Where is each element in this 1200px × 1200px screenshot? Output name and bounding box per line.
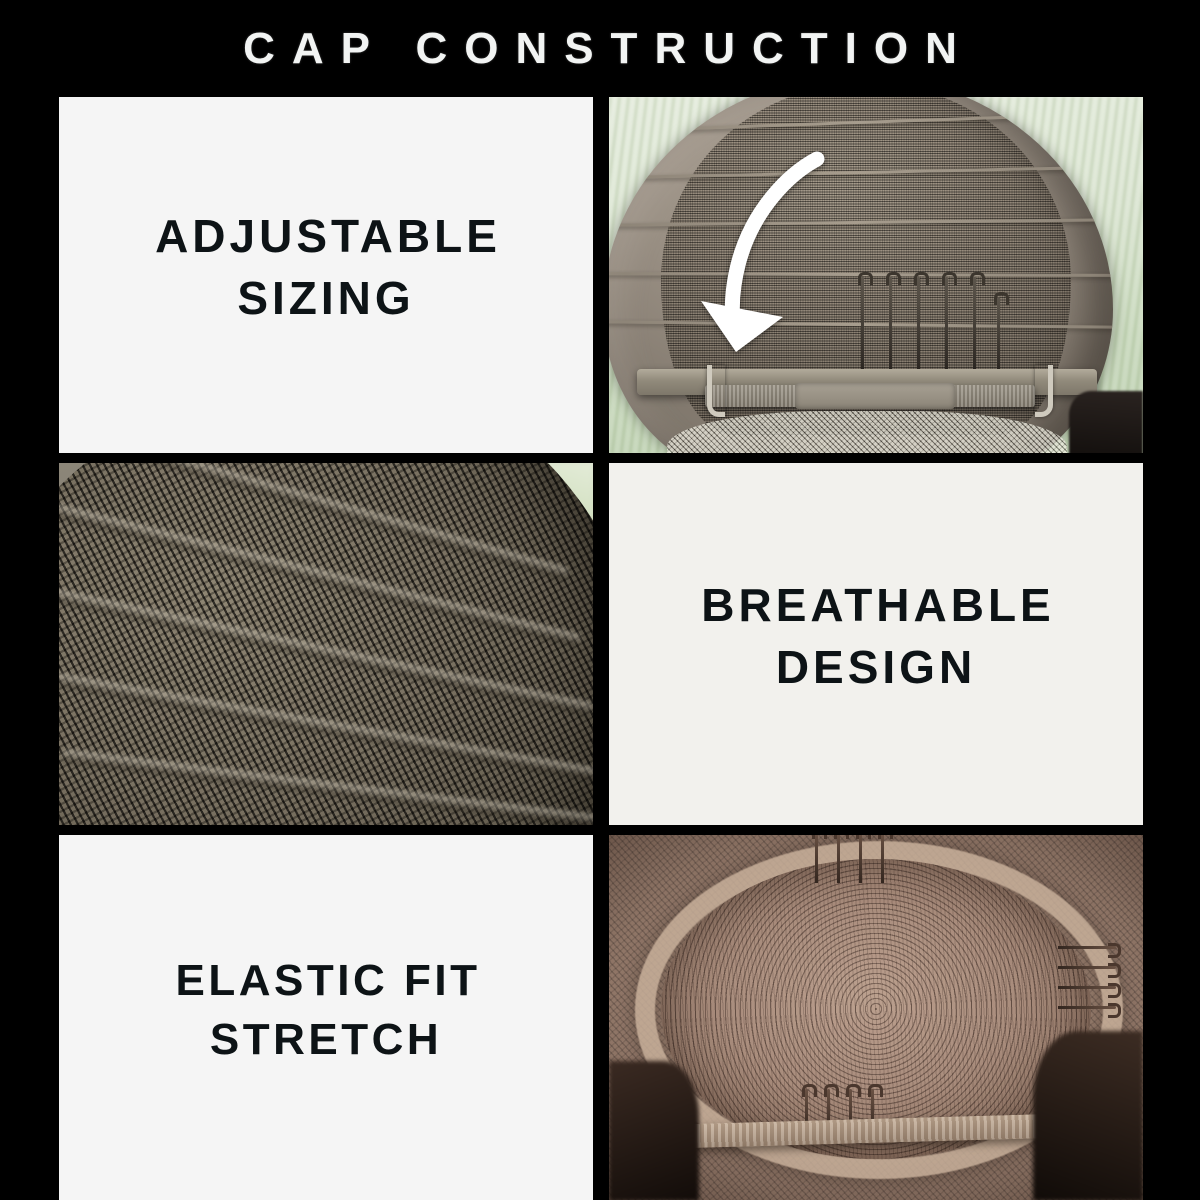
feature-label-elastic-fit-stretch: ELASTIC FIT STRETCH — [172, 952, 481, 1070]
page-title: CAP CONSTRUCTION — [226, 27, 974, 71]
feature-label-breathable-design: BREATHABLE DESIGN — [697, 575, 1054, 698]
comb-top — [809, 835, 909, 883]
cap-comb-cluster — [855, 277, 1005, 369]
feature-grid: ADJUSTABLE SIZING — [59, 97, 1143, 1197]
hair-strands-right — [1033, 1031, 1143, 1200]
breathable-mesh-closeup-photo — [59, 463, 593, 825]
feature-cell-cap-back-photo — [609, 97, 1143, 453]
feature-label-adjustable-sizing: ADJUSTABLE SIZING — [151, 206, 501, 329]
strap-hook-right — [1035, 365, 1053, 417]
feature-cell-elastic-fit-stretch: ELASTIC FIT STRETCH — [59, 835, 593, 1200]
wig-cap-interior-elastic-band-photo — [609, 835, 1143, 1200]
feature-cell-mesh-photo — [59, 463, 593, 825]
hair-strands — [1069, 391, 1143, 453]
cap-construction-infographic: CAP CONSTRUCTION ADJUSTABLE SIZING — [0, 0, 1200, 1200]
header-bar: CAP CONSTRUCTION — [0, 0, 1200, 97]
comb-side — [1058, 940, 1116, 1040]
feature-cell-breathable-design: BREATHABLE DESIGN — [609, 463, 1143, 825]
wig-cap-back-adjustable-strap-photo — [609, 97, 1143, 453]
hair-strands-left — [609, 1061, 699, 1200]
feature-cell-cap-interior-photo — [609, 835, 1143, 1200]
strap-hook-left — [707, 365, 725, 417]
adjustable-strap-pad — [795, 383, 955, 409]
feature-cell-adjustable-sizing: ADJUSTABLE SIZING — [59, 97, 593, 453]
curved-down-arrow-icon — [691, 149, 831, 364]
